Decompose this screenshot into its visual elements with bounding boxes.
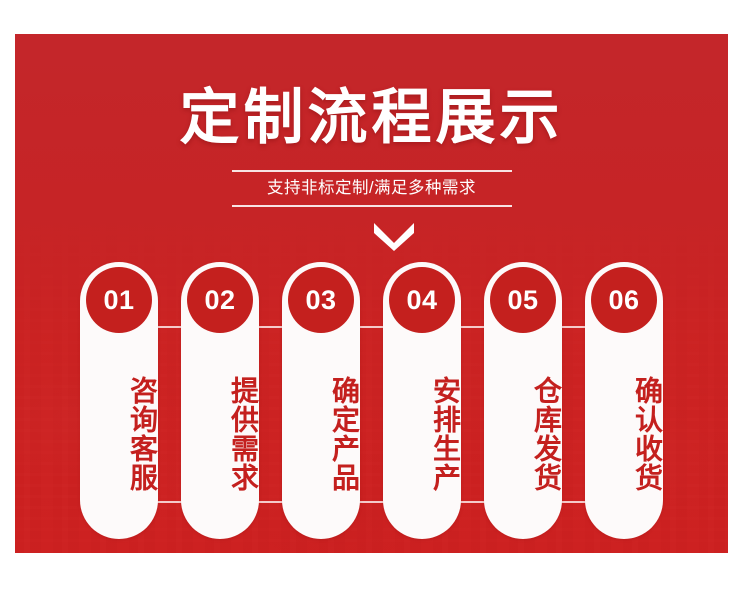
subtitle-block: 支持非标定制/满足多种需求 [232, 170, 512, 207]
step-number-badge: 01 [86, 267, 152, 333]
step-label: 仓库发货 [484, 346, 562, 521]
step-label: 确认收货 [585, 346, 663, 521]
step-number-badge: 04 [389, 267, 455, 333]
promo-banner: 定制流程展示 支持非标定制/满足多种需求 01 咨询客服 02 提供需求 [15, 34, 728, 553]
step-label: 提供需求 [181, 346, 259, 521]
process-step-2[interactable]: 02 提供需求 [181, 262, 259, 539]
process-steps: 01 咨询客服 02 提供需求 03 确定产品 04 安排生产 05 仓库发货 … [15, 262, 728, 552]
step-number-badge: 06 [591, 267, 657, 333]
step-label: 确定产品 [282, 346, 360, 521]
banner-header: 定制流程展示 支持非标定制/满足多种需求 [15, 34, 728, 221]
step-label: 安排生产 [383, 346, 461, 521]
page-subtitle: 支持非标定制/满足多种需求 [232, 172, 512, 205]
step-number-badge: 03 [288, 267, 354, 333]
step-number-badge: 05 [490, 267, 556, 333]
process-step-5[interactable]: 05 仓库发货 [484, 262, 562, 539]
process-step-6[interactable]: 06 确认收货 [585, 262, 663, 539]
divider-bottom [232, 205, 512, 207]
process-step-4[interactable]: 04 安排生产 [383, 262, 461, 539]
process-steps-row: 01 咨询客服 02 提供需求 03 确定产品 04 安排生产 05 仓库发货 … [15, 262, 728, 539]
page-title: 定制流程展示 [15, 34, 728, 148]
step-number-badge: 02 [187, 267, 253, 333]
process-step-1[interactable]: 01 咨询客服 [80, 262, 158, 539]
step-label: 咨询客服 [80, 346, 158, 521]
process-step-3[interactable]: 03 确定产品 [282, 262, 360, 539]
